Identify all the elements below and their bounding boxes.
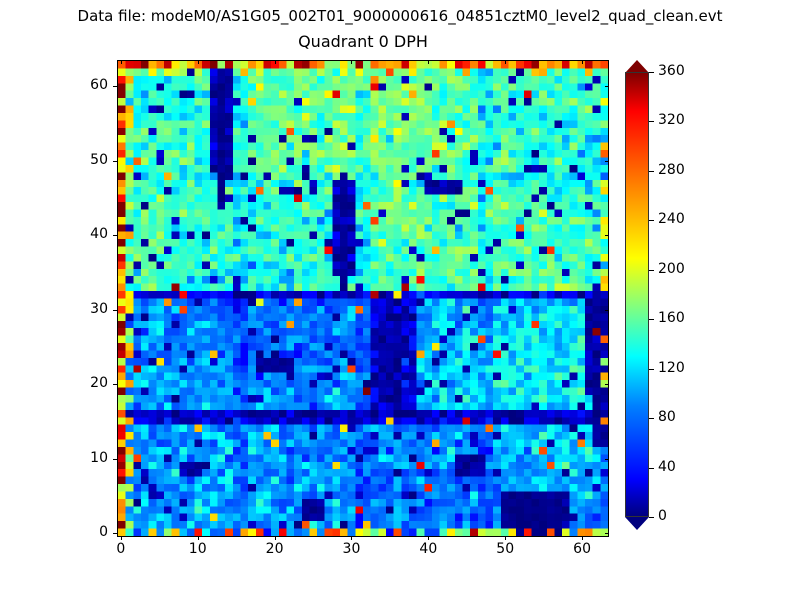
x-tick-top xyxy=(121,60,122,64)
colorbar-tick xyxy=(649,270,654,271)
x-tick-top xyxy=(505,60,506,64)
y-tick-right xyxy=(605,161,609,162)
colorbar-tick-label: 160 xyxy=(658,310,685,326)
y-tick-right xyxy=(605,459,609,460)
colorbar-tick-label: 360 xyxy=(658,63,685,79)
y-tick-label: 40 xyxy=(68,226,108,242)
colorbar-tick xyxy=(649,171,654,172)
y-tick-label: 60 xyxy=(68,77,108,93)
y-tick-right xyxy=(605,533,609,534)
colorbar-tick xyxy=(649,468,654,469)
x-tick xyxy=(351,536,352,540)
y-tick-label: 20 xyxy=(68,375,108,391)
y-tick-right xyxy=(605,310,609,311)
x-tick-top xyxy=(351,60,352,64)
y-tick-right xyxy=(605,235,609,236)
colorbar-gradient xyxy=(625,72,649,517)
x-tick-top xyxy=(198,60,199,64)
heatmap-axes xyxy=(117,60,609,537)
x-tick-label: 10 xyxy=(173,541,223,557)
colorbar-tick xyxy=(649,72,654,73)
y-tick xyxy=(113,384,117,385)
y-tick-right xyxy=(605,86,609,87)
y-tick xyxy=(113,86,117,87)
x-tick xyxy=(198,536,199,540)
colorbar-tick xyxy=(649,319,654,320)
colorbar-extend-min-arrow xyxy=(625,517,649,530)
x-tick-label: 30 xyxy=(326,541,376,557)
y-tick xyxy=(113,533,117,534)
colorbar-tick xyxy=(649,369,654,370)
page-title: Quadrant 0 DPH xyxy=(117,32,609,51)
colorbar-tick-label: 240 xyxy=(658,211,685,227)
x-tick-label: 0 xyxy=(96,541,146,557)
figure-canvas: Data file: modeM0/AS1G05_002T01_90000006… xyxy=(0,0,800,600)
y-tick-right xyxy=(605,384,609,385)
x-tick-label: 40 xyxy=(403,541,453,557)
colorbar-tick-label: 0 xyxy=(658,508,667,524)
x-tick-top xyxy=(275,60,276,64)
detector-pixel-heatmap xyxy=(118,61,608,536)
x-tick-top xyxy=(582,60,583,64)
x-tick-label: 60 xyxy=(557,541,607,557)
colorbar-tick xyxy=(649,121,654,122)
x-tick xyxy=(505,536,506,540)
colorbar-tick-label: 320 xyxy=(658,112,685,128)
y-tick-label: 30 xyxy=(68,301,108,317)
x-tick xyxy=(582,536,583,540)
colorbar-tick-label: 280 xyxy=(658,162,685,178)
y-tick xyxy=(113,459,117,460)
y-tick xyxy=(113,235,117,236)
x-tick xyxy=(428,536,429,540)
colorbar-tick xyxy=(649,418,654,419)
colorbar xyxy=(625,60,649,537)
x-tick-top xyxy=(428,60,429,64)
colorbar-tick-label: 200 xyxy=(658,261,685,277)
colorbar-tick-label: 120 xyxy=(658,360,685,376)
x-tick xyxy=(275,536,276,540)
x-tick xyxy=(121,536,122,540)
x-tick-label: 20 xyxy=(250,541,300,557)
colorbar-tick xyxy=(649,220,654,221)
colorbar-tick-label: 40 xyxy=(658,459,676,475)
y-tick-label: 0 xyxy=(68,524,108,540)
y-tick-label: 10 xyxy=(68,450,108,466)
x-tick-label: 50 xyxy=(480,541,530,557)
data-file-title: Data file: modeM0/AS1G05_002T01_90000006… xyxy=(0,7,800,25)
colorbar-tick xyxy=(649,517,654,518)
y-tick xyxy=(113,161,117,162)
y-tick xyxy=(113,310,117,311)
y-tick-label: 50 xyxy=(68,152,108,168)
colorbar-tick-label: 80 xyxy=(658,409,676,425)
